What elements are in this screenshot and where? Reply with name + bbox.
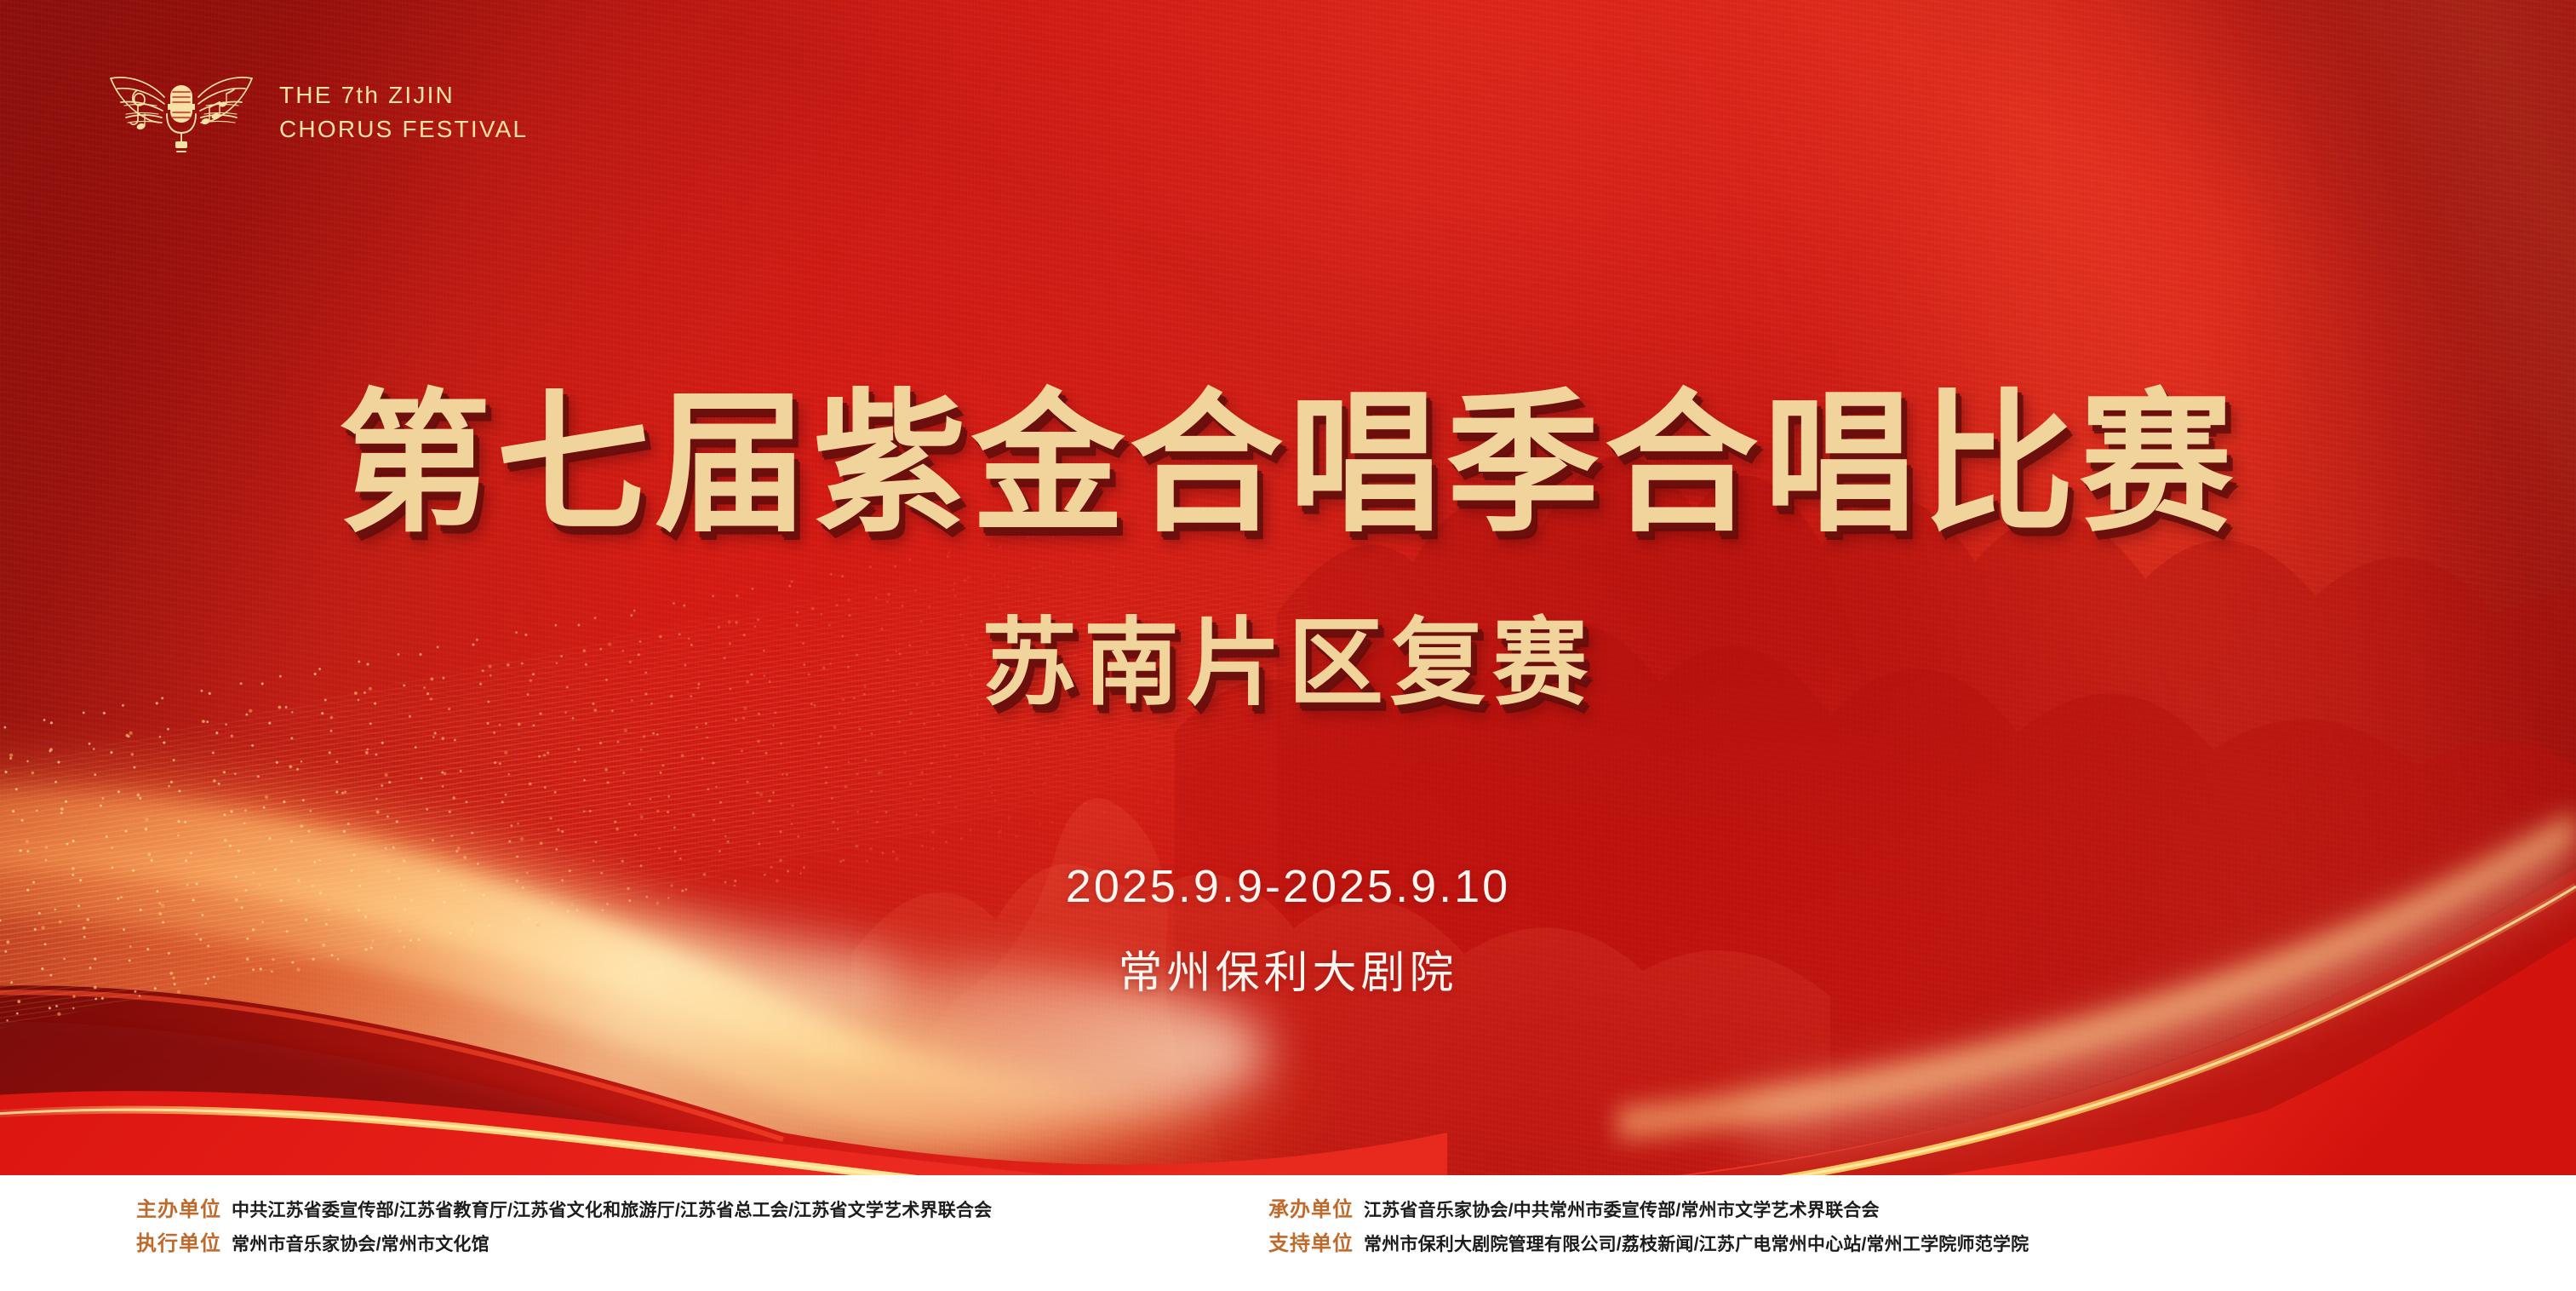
logo-line-1: THE 7th ZIJIN xyxy=(279,81,528,110)
main-title: 第七届紫金合唱季合唱比赛 xyxy=(0,339,2576,561)
credit-label: 支持单位 xyxy=(1268,1226,1354,1256)
festival-logo: THE 7th ZIJIN CHORUS FESTIVAL xyxy=(100,66,528,155)
logo-wordmark: THE 7th ZIJIN CHORUS FESTIVAL xyxy=(279,81,528,144)
credit-value: 江苏省音乐家协会/中共常州市委宣传部/常州市文学艺术界联合会 xyxy=(1364,1196,1880,1222)
winged-microphone-logo-icon xyxy=(100,66,262,155)
footer-credits-bar: 主办单位 中共江苏省委宣传部/江苏省教育厅/江苏省文化和旅游厅/江苏省总工会/江… xyxy=(0,1175,2576,1291)
credit-label: 执行单位 xyxy=(136,1226,221,1256)
credit-row: 支持单位 常州市保利大剧院管理有限公司/荔枝新闻/江苏广电常州中心站/常州工学院… xyxy=(1268,1226,2029,1260)
credit-value: 常州市音乐家协会/常州市文化馆 xyxy=(232,1231,489,1256)
credit-label: 主办单位 xyxy=(136,1192,221,1222)
credit-row: 主办单位 中共江苏省委宣传部/江苏省教育厅/江苏省文化和旅游厅/江苏省总工会/江… xyxy=(136,1192,992,1226)
credit-value: 中共江苏省委宣传部/江苏省教育厅/江苏省文化和旅游厅/江苏省总工会/江苏省文学艺… xyxy=(232,1196,992,1222)
poster-canvas: THE 7th ZIJIN CHORUS FESTIVAL 第七届紫金合唱季合唱… xyxy=(0,0,2576,1291)
event-venue: 常州保利大剧院 xyxy=(0,937,2576,1001)
logo-line-2: CHORUS FESTIVAL xyxy=(279,115,528,144)
credits-column-right: 承办单位 江苏省音乐家协会/中共常州市委宣传部/常州市文学艺术界联合会 支持单位… xyxy=(1268,1192,2029,1260)
credit-value: 常州市保利大剧院管理有限公司/荔枝新闻/江苏广电常州中心站/常州工学院师范学院 xyxy=(1364,1231,2029,1256)
credit-row: 承办单位 江苏省音乐家协会/中共常州市委宣传部/常州市文学艺术界联合会 xyxy=(1268,1192,2029,1226)
event-date: 2025.9.9-2025.9.10 xyxy=(0,860,2576,913)
credits-column-left: 主办单位 中共江苏省委宣传部/江苏省教育厅/江苏省文化和旅游厅/江苏省总工会/江… xyxy=(136,1192,992,1260)
credit-row: 执行单位 常州市音乐家协会/常州市文化馆 xyxy=(136,1226,992,1260)
sub-title: 苏南片区复赛 xyxy=(0,586,2576,724)
credit-label: 承办单位 xyxy=(1268,1192,1354,1222)
